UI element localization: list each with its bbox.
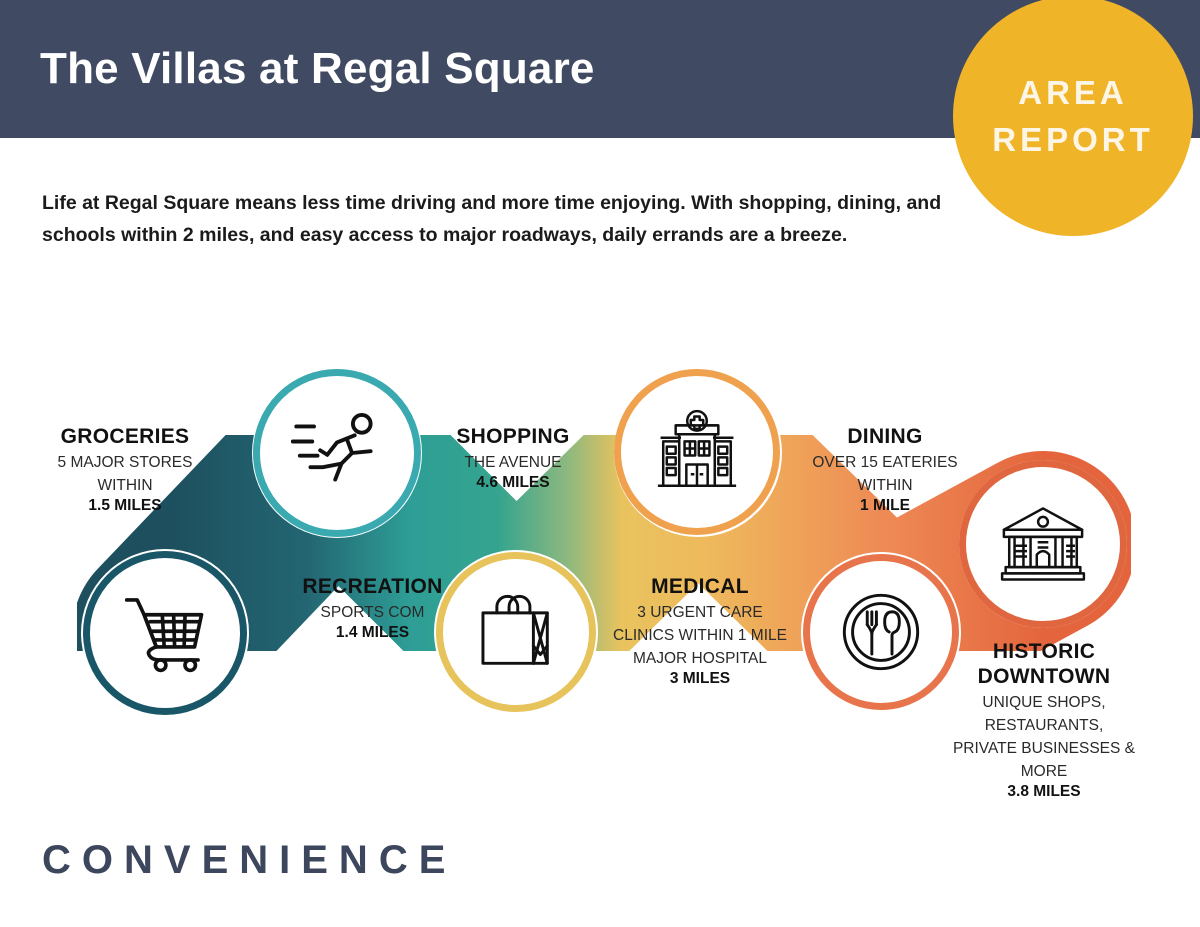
badge-line-2: REPORT <box>992 123 1154 156</box>
page-title: The Villas at Regal Square <box>40 44 595 94</box>
historic-downtown-title: HISTORIC DOWNTOWN <box>930 640 1158 690</box>
groceries-label: GROCERIES 5 MAJOR STORES WITHIN 1.5 MILE… <box>0 425 250 516</box>
groceries-sub-2: WITHIN <box>0 476 250 496</box>
historic-downtown-sub-1: UNIQUE SHOPS, <box>930 693 1158 713</box>
historic-downtown-sub-2: RESTAURANTS, <box>930 716 1158 736</box>
infographic-page: The Villas at Regal Square AREA REPORT L… <box>0 0 1200 927</box>
running-person-icon <box>291 412 383 494</box>
dining-sub-2: WITHIN <box>760 476 1010 496</box>
dining-title: DINING <box>760 425 1010 450</box>
shopping-sub-1: THE AVENUE <box>378 453 648 473</box>
shopping-distance: 4.6 MILES <box>378 473 648 493</box>
groceries-title: GROCERIES <box>0 425 250 450</box>
dining-sub-1: OVER 15 EATERIES <box>760 453 1010 473</box>
plate-fork-spoon-icon <box>837 588 925 676</box>
medical-title: MEDICAL <box>560 575 840 600</box>
medical-sub-1: 3 URGENT CARE <box>560 603 840 623</box>
intro-paragraph: Life at Regal Square means less time dri… <box>42 188 947 251</box>
shopping-label: SHOPPING THE AVENUE 4.6 MILES <box>378 425 648 493</box>
groceries-circle <box>83 551 247 715</box>
historic-downtown-sub-4: MORE <box>930 762 1158 782</box>
shopping-title: SHOPPING <box>378 425 648 450</box>
groceries-sub-1: 5 MAJOR STORES <box>0 453 250 473</box>
footer-heading: CONVENIENCE <box>42 838 456 883</box>
historic-downtown-label: HISTORIC DOWNTOWN UNIQUE SHOPS, RESTAURA… <box>930 640 1158 802</box>
area-report-badge: AREA REPORT <box>953 0 1193 236</box>
medical-distance: 3 MILES <box>560 669 840 689</box>
badge-line-1: AREA <box>1018 76 1128 109</box>
historic-downtown-distance: 3.8 MILES <box>930 782 1158 802</box>
groceries-distance: 1.5 MILES <box>0 496 250 516</box>
shopping-cart-icon <box>121 593 209 673</box>
historic-downtown-circle <box>959 460 1127 628</box>
bank-building-icon <box>995 503 1091 585</box>
medical-sub-3: MAJOR HOSPITAL <box>560 649 840 669</box>
medical-sub-2: CLINICS WITHIN 1 MILE <box>560 626 840 646</box>
medical-circle <box>614 369 780 535</box>
amenity-chain-diagram: GROCERIES 5 MAJOR STORES WITHIN 1.5 MILE… <box>0 330 1200 830</box>
medical-label: MEDICAL 3 URGENT CARE CLINICS WITHIN 1 M… <box>560 575 840 689</box>
shopping-bag-icon <box>470 592 562 672</box>
hospital-icon <box>649 409 745 495</box>
historic-downtown-sub-3: PRIVATE BUSINESSES & <box>930 739 1158 759</box>
